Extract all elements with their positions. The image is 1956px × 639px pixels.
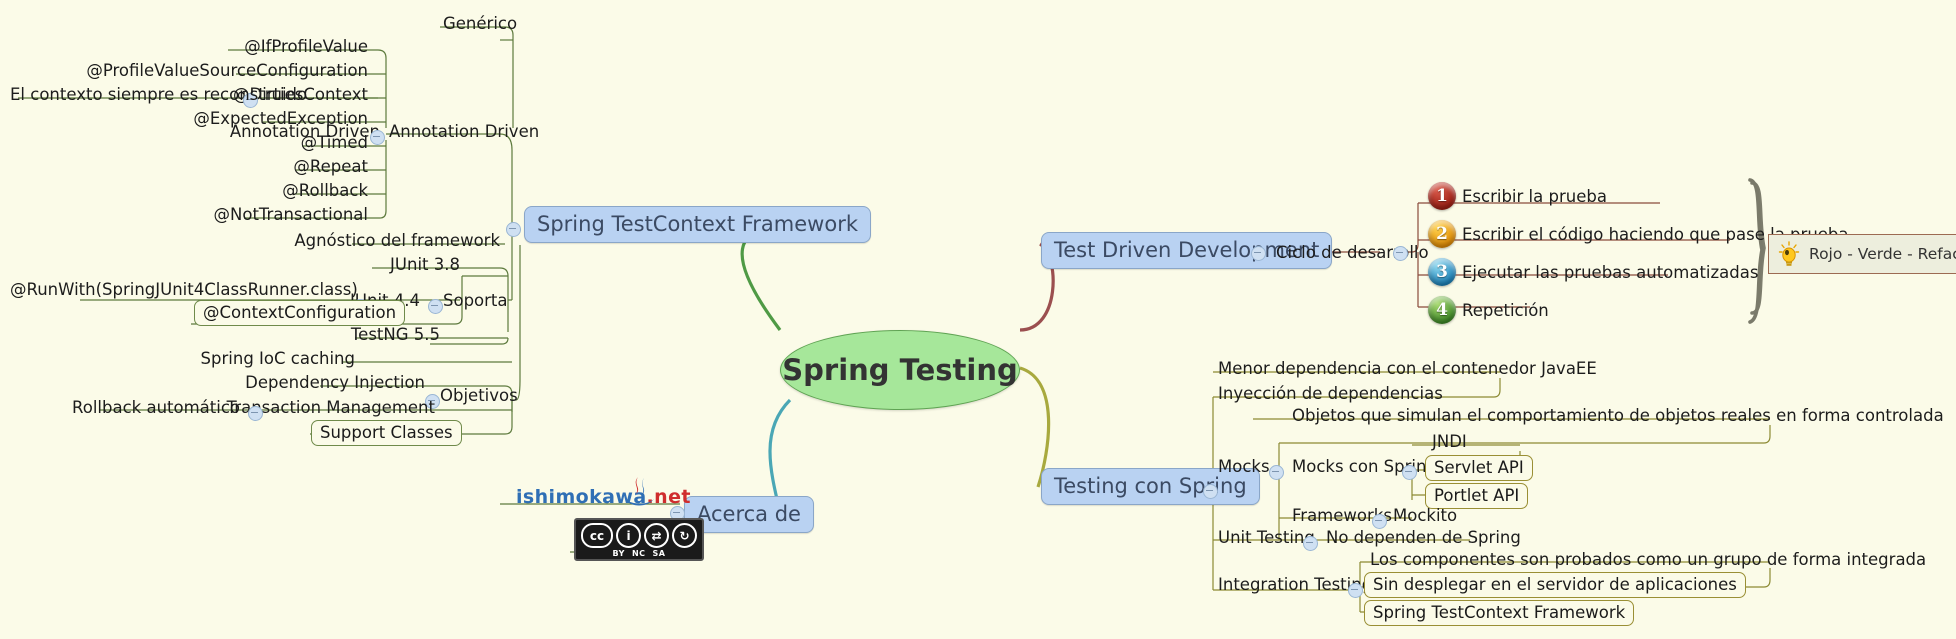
node-ifprofilevalue[interactable]: @IfProfileValue — [10, 38, 368, 56]
step-badge-4: 4 — [1428, 296, 1456, 324]
node-spring-testcontext-framework-leaf[interactable]: Spring TestContext Framework — [1364, 600, 1634, 626]
collapse-toggle-unit-testing[interactable] — [1303, 536, 1318, 551]
node-spring-ioc-caching[interactable]: Spring IoC caching — [10, 350, 355, 368]
node-contextconfiguration[interactable]: @ContextConfiguration — [194, 300, 405, 326]
node-timed[interactable]: @Timed — [10, 134, 368, 152]
cc-by-icon: i — [616, 523, 641, 548]
collapse-toggle-ciclo[interactable] — [1393, 246, 1408, 261]
node-integration-componentes[interactable]: Los componentes son probados como un gru… — [1370, 551, 1926, 569]
step-badge-2: 2 — [1428, 220, 1456, 248]
node-repeat[interactable]: @Repeat — [10, 158, 368, 176]
node-expectedexception[interactable]: @ExpectedException — [10, 110, 368, 128]
node-rollback[interactable]: @Rollback — [10, 182, 368, 200]
java-swoosh-icon — [618, 474, 656, 512]
node-menor-dependencia[interactable]: Menor dependencia con el contenedor Java… — [1218, 360, 1597, 378]
node-repeticion[interactable]: Repetición — [1462, 302, 1549, 320]
node-mockito[interactable]: Mockito — [1393, 507, 1457, 525]
branch-spring-testcontext-framework[interactable]: Spring TestContext Framework — [524, 206, 871, 243]
node-objetivos[interactable]: Objetivos — [440, 387, 518, 405]
node-escribir-la-prueba[interactable]: Escribir la prueba — [1462, 188, 1607, 206]
collapse-toggle-mocks[interactable] — [1269, 465, 1284, 480]
cc-sa-icon: ↻ — [672, 523, 697, 548]
node-dependency-injection[interactable]: Dependency Injection — [10, 374, 425, 392]
lightbulb-icon — [1778, 241, 1800, 267]
callout-label: Rojo - Verde - Refactor — [1809, 245, 1956, 263]
node-inyeccion-de-dependencias[interactable]: Inyección de dependencias — [1218, 385, 1443, 403]
collapse-toggle-mocks-con-spring[interactable] — [1402, 465, 1417, 480]
node-generico[interactable]: Genérico — [443, 15, 517, 33]
node-annotation-driven[interactable]: Annotation Driven — [389, 123, 539, 141]
node-support-classes[interactable]: Support Classes — [311, 420, 462, 446]
node-jndi[interactable]: JNDI — [1432, 433, 1467, 451]
creative-commons-badge[interactable]: cc i ⇄ ↻ BY NC SA — [574, 518, 704, 561]
node-testng-55[interactable]: TestNG 5.5 — [10, 326, 440, 344]
node-mocks[interactable]: Mocks — [1218, 458, 1270, 476]
collapse-toggle-annotation-driven[interactable] — [370, 130, 385, 145]
node-nottransactional[interactable]: @NotTransactional — [10, 206, 368, 224]
node-mocks-definition[interactable]: Objetos que simulan el comportamiento de… — [1292, 407, 1944, 425]
cc-by-label: BY — [613, 549, 625, 558]
node-unit-testing-note[interactable]: No dependen de Spring — [1326, 529, 1521, 547]
step-badge-3: 3 — [1428, 258, 1456, 286]
node-rollback-automatico[interactable]: Rollback automático — [10, 399, 240, 417]
collapse-toggle-testcontext[interactable] — [506, 222, 521, 237]
mindmap-canvas: Spring Testing Spring TestContext Framew… — [0, 0, 1956, 639]
step-badge-1: 1 — [1428, 182, 1456, 210]
callout-rojo-verde-refactor[interactable]: Rojo - Verde - Refactor — [1768, 234, 1956, 274]
node-profilevaluesourceconfiguration[interactable]: @ProfileValueSourceConfiguration — [10, 62, 368, 80]
cc-icon: cc — [581, 523, 613, 548]
node-servlet-api[interactable]: Servlet API — [1425, 455, 1533, 481]
node-soporta[interactable]: Soporta — [443, 292, 508, 310]
node-agnostico-del-framework[interactable]: Agnóstico del framework — [10, 232, 500, 250]
collapse-toggle-transaction-management[interactable] — [248, 406, 263, 421]
root-node[interactable]: Spring Testing — [780, 330, 1020, 410]
node-dirtiescontext-note[interactable]: El contexto siempre es reconstruido — [10, 86, 235, 104]
cc-sa-label: SA — [653, 549, 666, 558]
node-junit-38[interactable]: JUnit 3.8 — [10, 256, 460, 274]
node-unit-testing[interactable]: Unit Testing — [1218, 529, 1315, 547]
node-sin-desplegar[interactable]: Sin desplegar en el servidor de aplicaci… — [1364, 572, 1746, 598]
cc-nc-icon: ⇄ — [644, 523, 669, 548]
collapse-toggle-tdd[interactable] — [1251, 246, 1266, 261]
node-ejecutar-las-pruebas[interactable]: Ejecutar las pruebas automatizadas — [1462, 264, 1758, 282]
collapse-toggle-soporta[interactable] — [428, 299, 443, 314]
collapse-toggle-integration-testing[interactable] — [1348, 583, 1363, 598]
collapse-toggle-testing-con-spring[interactable] — [1203, 484, 1218, 499]
cc-nc-label: NC — [632, 549, 646, 558]
ishimokawa-logo: ishimokawa.net — [516, 486, 691, 508]
collapse-toggle-frameworks[interactable] — [1372, 514, 1387, 529]
node-runwith-springjunit4classrunner[interactable]: @RunWith(SpringJUnit4ClassRunner.class) — [10, 281, 355, 299]
